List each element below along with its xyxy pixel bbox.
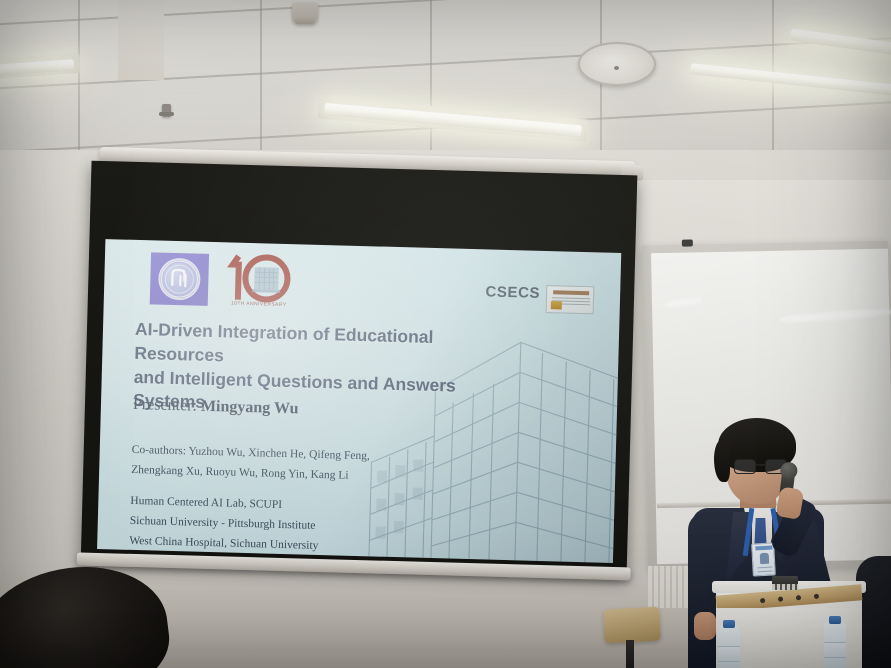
certificate-thumbnail-icon [546,285,595,314]
sprinkler-head-icon [162,104,171,117]
chair-back [603,607,661,644]
projection-screen: 10TH ANNIVERSARY CSECS AI- [80,153,637,588]
university-seal-icon [158,258,201,301]
presenter-label: Presenter: [133,396,197,415]
csecs-label: CSECS [485,283,540,301]
sichuan-university-logo [150,252,209,306]
seal-glyph-icon [158,258,201,301]
chair-post [626,640,634,668]
slide-affiliations: Human Centered AI Lab, SCUPI Sichuan Uni… [128,492,319,563]
slide-coauthors: Co-authors: Yuzhou Wu, Xinchen He, Qifen… [131,440,370,487]
anniversary-glyph-icon: 10TH ANNIVERSARY [222,250,298,314]
presenter-left-hand [694,612,716,640]
smoke-detector-icon [292,2,318,24]
projected-slide: 10TH ANNIVERSARY CSECS AI- [97,239,621,563]
water-bottle-right [824,622,846,668]
podium-control-device [772,576,798,590]
ceiling-speaker-icon [578,42,656,86]
conference-badge [751,542,776,576]
anniversary-caption: 10TH ANNIVERSARY [231,301,287,309]
chair [604,608,660,668]
screen-surface: 10TH ANNIVERSARY CSECS AI- [81,161,638,576]
slide-presenter-line: Presenter: Mingyang Wu [133,396,299,418]
presenter-hair-side [714,440,730,482]
whiteboard-clip [682,239,693,246]
anniversary-logo: 10TH ANNIVERSARY [222,250,298,314]
presenter-name: Mingyang Wu [201,398,299,418]
podium-side-panel [118,0,164,80]
water-bottle-left [718,626,740,668]
csecs-badge-block: CSECS [485,283,594,314]
presentation-photo-scene: 10TH ANNIVERSARY CSECS AI- [0,0,891,668]
